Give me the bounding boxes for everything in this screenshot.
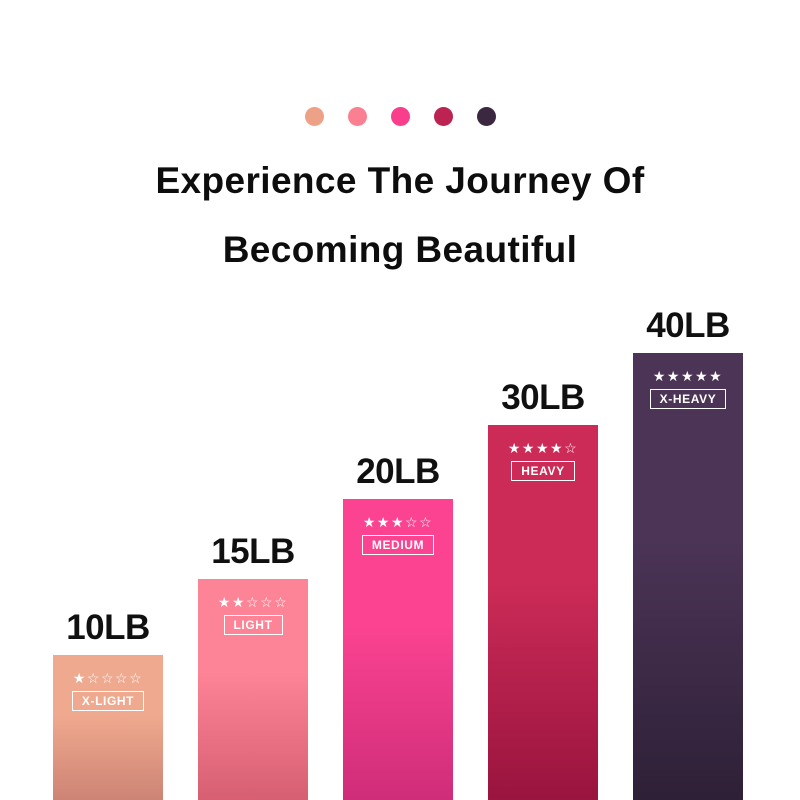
star-rating-icon: ★☆☆☆☆: [73, 671, 143, 685]
weight-label: 20LB: [356, 454, 440, 489]
level-badge: LIGHT: [224, 615, 283, 635]
star-rating-icon: ★★☆☆☆: [218, 595, 288, 609]
star-rating-icon: ★★★★★: [653, 369, 723, 383]
weight-label: 15LB: [211, 534, 295, 569]
weight-label: 40LB: [646, 308, 730, 343]
rating-block: ★★★☆☆MEDIUM: [343, 515, 453, 555]
level-badge: HEAVY: [511, 461, 574, 481]
bar-15lb[interactable]: 15LB★★☆☆☆LIGHT: [198, 579, 308, 800]
star-rating-icon: ★★★☆☆: [363, 515, 433, 529]
bar-30lb[interactable]: 30LB★★★★☆HEAVY: [488, 425, 598, 800]
promo-graphic: Experience The Journey Of Becoming Beaut…: [0, 0, 800, 800]
resistance-bar-chart: 10LB★☆☆☆☆X-LIGHT15LB★★☆☆☆LIGHT20LB★★★☆☆M…: [0, 0, 800, 800]
bar-40lb[interactable]: 40LB★★★★★X-HEAVY: [633, 353, 743, 800]
bar-20lb[interactable]: 20LB★★★☆☆MEDIUM: [343, 499, 453, 800]
level-badge: X-LIGHT: [72, 691, 144, 711]
level-badge: MEDIUM: [362, 535, 434, 555]
rating-block: ★★★★☆HEAVY: [488, 441, 598, 481]
rating-block: ★★★★★X-HEAVY: [633, 369, 743, 409]
weight-label: 30LB: [501, 380, 585, 415]
bar-fill: [488, 425, 598, 800]
rating-block: ★★☆☆☆LIGHT: [198, 595, 308, 635]
level-badge: X-HEAVY: [650, 389, 727, 409]
bar-10lb[interactable]: 10LB★☆☆☆☆X-LIGHT: [53, 655, 163, 800]
bar-fill: [633, 353, 743, 800]
weight-label: 10LB: [66, 610, 150, 645]
rating-block: ★☆☆☆☆X-LIGHT: [53, 671, 163, 711]
star-rating-icon: ★★★★☆: [508, 441, 578, 455]
